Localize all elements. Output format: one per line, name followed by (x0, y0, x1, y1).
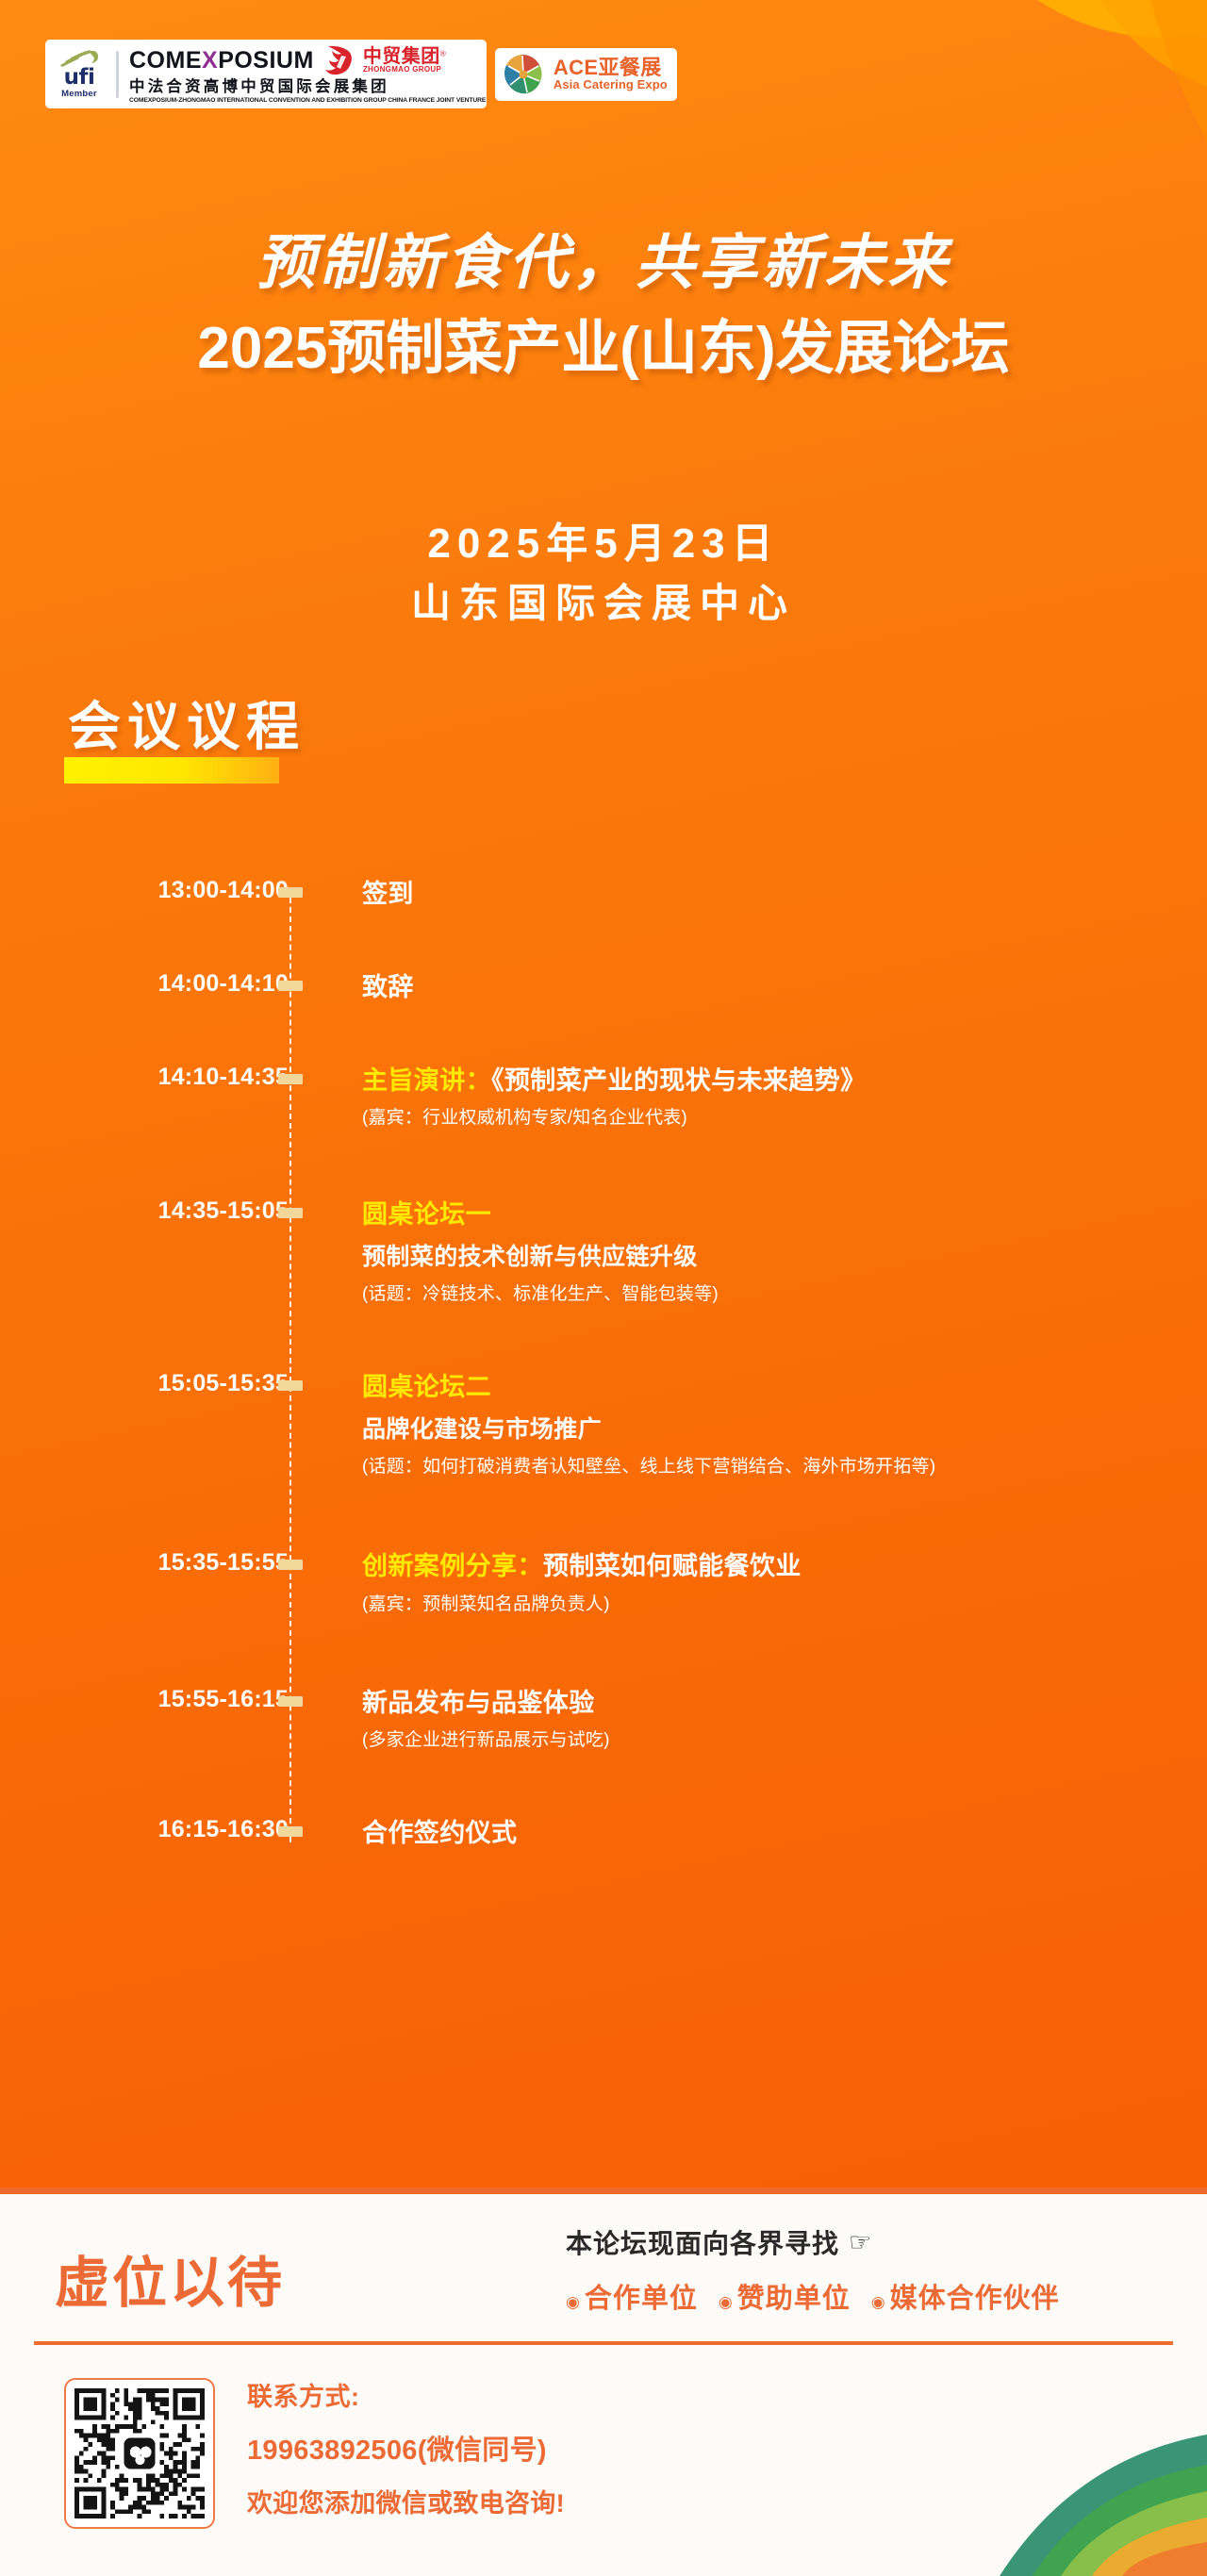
comexposium-wordmark: COMEXPOSIUM (129, 49, 314, 73)
contact-text-block: 联系方式: 19963892506(微信同号) 欢迎您添加微信或致电咨询! (247, 2376, 565, 2519)
agenda-row-note: (多家企业进行新品展示与试吃) (362, 1728, 610, 1754)
agenda-row-note: (话题：如何打破消费者认知壁垒、线上线下营销结合、海外市场开拓等) (362, 1455, 935, 1480)
ace-expo-plate: ACE亚餐展 Asia Catering Expo (495, 48, 677, 101)
timeline-tick (278, 1074, 303, 1084)
agenda-rows-container: 13:00-14:00签到14:00-14:10致辞14:10-14:35主旨演… (0, 877, 1207, 1850)
comexposium-top-row: COMEXPOSIUM 中贸集团® ZHONGMAO GROUP (129, 44, 479, 76)
seek-item: ◉媒体合作伙伴 (871, 2276, 1060, 2316)
agenda-row-time: 14:35-15:05 (62, 1197, 289, 1225)
timeline-tick (278, 981, 303, 991)
agenda-row-body: 致辞 (353, 970, 414, 1004)
event-date: 2025年5月23日 (0, 509, 1207, 570)
timeline-tick (278, 887, 303, 898)
seek-item-bullet-icon: ◉ (871, 2293, 886, 2311)
agenda-heading-underline (64, 757, 279, 784)
seek-items-list: ◉合作单位◉赞助单位◉媒体合作伙伴 (566, 2276, 1169, 2316)
contact-phone[interactable]: 19963892506(微信同号) (247, 2428, 565, 2468)
zhongmao-en: ZHONGMAO GROUP (363, 66, 446, 74)
agenda-row-note: (话题：冷链技术、标准化生产、智能包装等) (362, 1282, 719, 1308)
agenda-row-note: (嘉宾：行业权威机构专家/知名企业代表) (362, 1106, 867, 1131)
ufi-wordmark: ufi (64, 68, 95, 88)
agenda-row-title: 创新案例分享：预制菜如何赋能餐饮业 (362, 1549, 802, 1583)
header-logo-bar: ufi Member COMEXPOSIUM 中贸集团® ZHONGMAO GR… (45, 40, 677, 108)
agenda-row-time: 15:05-15:35 (62, 1370, 289, 1397)
ufi-comexposium-plate: ufi Member COMEXPOSIUM 中贸集团® ZHONGMAO GR… (45, 40, 487, 108)
agenda-row-note: (嘉宾：预制菜知名品牌负责人) (362, 1593, 802, 1618)
timeline-tick (278, 1560, 303, 1570)
agenda-row-time: 16:15-16:30 (62, 1816, 289, 1843)
agenda-row-body: 创新案例分享：预制菜如何赋能餐饮业(嘉宾：预制菜知名品牌负责人) (353, 1549, 802, 1617)
agenda-row-title: 合作签约仪式 (362, 1816, 517, 1850)
agenda-row-body: 签到 (353, 877, 414, 911)
agenda-row-body: 主旨演讲：《预制菜产业的现状与未来趋势》(嘉宾：行业权威机构专家/知名企业代表) (353, 1064, 867, 1131)
agenda-row: 14:10-14:35主旨演讲：《预制菜产业的现状与未来趋势》(嘉宾：行业权威机… (0, 1064, 1207, 1131)
zhongmao-cn-row: 中贸集团® (363, 47, 446, 66)
footer-divider (34, 2341, 1173, 2345)
sponsor-call-zone: 虚位以待 本论坛现面向各界寻找 ☞ ◉合作单位◉赞助单位◉媒体合作伙伴 (0, 2216, 1207, 2338)
footer-panel: 虚位以待 本论坛现面向各界寻找 ☞ ◉合作单位◉赞助单位◉媒体合作伙伴 联系方式… (0, 2188, 1207, 2576)
pointing-hand-icon: ☞ (849, 2230, 872, 2255)
agenda-row-time: 14:00-14:10 (62, 970, 289, 998)
agenda-row-body: 圆桌论坛二品牌化建设与市场推广(话题：如何打破消费者认知壁垒、线上线下营销结合、… (353, 1370, 935, 1480)
agenda-row-subtitle: 预制菜的技术创新与供应链升级 (362, 1242, 719, 1274)
seek-item-label: 合作单位 (585, 2284, 698, 2314)
agenda-row-time: 14:10-14:35 (62, 1064, 289, 1091)
seek-item-bullet-icon: ◉ (566, 2293, 581, 2311)
sponsor-placeholder-text: 虚位以待 (55, 2238, 285, 2318)
agenda-row-title: 圆桌论坛一 (362, 1197, 719, 1231)
seek-item-bullet-icon: ◉ (719, 2293, 734, 2311)
ace-en-name: Asia Catering Expo (554, 78, 668, 91)
timeline-tick (278, 1696, 303, 1707)
ufi-member-label: Member (61, 89, 97, 99)
agenda-title-lead: 创新案例分享： (362, 1552, 543, 1580)
zhongmao-dragon-icon (322, 44, 355, 76)
timeline-tick (278, 1826, 303, 1837)
timeline-tick (278, 1380, 303, 1391)
agenda-title-continuation: 《预制菜产业的现状与未来趋势》 (491, 1066, 867, 1095)
agenda-row: 15:55-16:15新品发布与品鉴体验(多家企业进行新品展示与试吃) (0, 1686, 1207, 1754)
logo-divider (116, 51, 119, 98)
ace-text-block: ACE亚餐展 Asia Catering Expo (554, 58, 668, 91)
agenda-timeline: 13:00-14:00签到14:00-14:10致辞14:10-14:35主旨演… (0, 877, 1207, 1850)
agenda-row-body: 圆桌论坛一预制菜的技术创新与供应链升级(话题：冷链技术、标准化生产、智能包装等) (353, 1197, 719, 1308)
timeline-tick (278, 1208, 303, 1218)
contact-note: 欢迎您添加微信或致电咨询! (247, 2483, 565, 2519)
agenda-row-time: 15:35-15:55 (62, 1549, 289, 1577)
seek-text: 本论坛现面向各界寻找 (566, 2223, 839, 2261)
agenda-heading-text: 会议议程 (68, 700, 306, 755)
zhongmao-text: 中贸集团® ZHONGMAO GROUP (363, 47, 446, 74)
agenda-title-lead: 主旨演讲： (362, 1066, 491, 1095)
agenda-row: 14:00-14:10致辞 (0, 970, 1207, 1004)
agenda-row-title: 致辞 (362, 970, 414, 1004)
wechat-qr-code[interactable] (74, 2388, 205, 2518)
event-venue: 山东国际会展中心 (0, 571, 1207, 629)
wechat-qr-card[interactable] (64, 2378, 215, 2529)
agenda-row: 16:15-16:30合作签约仪式 (0, 1816, 1207, 1850)
contact-zone: 联系方式: 19963892506(微信同号) 欢迎您添加微信或致电咨询! (0, 2372, 1207, 2576)
agenda-row-title: 新品发布与品鉴体验 (362, 1686, 610, 1720)
footer-top-rule (0, 2188, 1207, 2194)
page-title: 2025预制菜产业(山东)发展论坛 (0, 318, 1207, 379)
agenda-row-time: 13:00-14:00 (62, 877, 289, 904)
seek-line: 本论坛现面向各界寻找 ☞ (566, 2223, 1169, 2261)
comexposium-block: COMEXPOSIUM 中贸集团® ZHONGMAO GROUP 中法合资高博中… (129, 44, 479, 104)
ace-cn-name: ACE亚餐展 (554, 58, 668, 78)
agenda-row-subtitle: 品牌化建设与市场推广 (362, 1414, 935, 1446)
agenda-row-title: 圆桌论坛二 (362, 1370, 935, 1404)
hero-slogan: 预制新食代，共享新未来 (0, 215, 1207, 301)
agenda-row-title: 主旨演讲：《预制菜产业的现状与未来趋势》 (362, 1064, 867, 1098)
ace-pinwheel-icon (501, 52, 546, 97)
agenda-row-body: 合作签约仪式 (353, 1816, 517, 1850)
contact-label: 联系方式: (247, 2376, 565, 2413)
seek-item-label: 赞助单位 (737, 2284, 851, 2314)
comexposium-en-name: COMEXPOSIUM-ZHONGMAO INTERNATIONAL CONVE… (129, 97, 486, 104)
agenda-row: 15:35-15:55创新案例分享：预制菜如何赋能餐饮业(嘉宾：预制菜知名品牌负… (0, 1549, 1207, 1617)
sponsor-seek-block: 本论坛现面向各界寻找 ☞ ◉合作单位◉赞助单位◉媒体合作伙伴 (566, 2223, 1169, 2316)
poster-root: ufi Member COMEXPOSIUM 中贸集团® ZHONGMAO GR… (0, 0, 1207, 2576)
agenda-row: 14:35-15:05圆桌论坛一预制菜的技术创新与供应链升级(话题：冷链技术、标… (0, 1197, 1207, 1308)
agenda-row-body: 新品发布与品鉴体验(多家企业进行新品展示与试吃) (353, 1686, 610, 1754)
agenda-row-time: 15:55-16:15 (62, 1686, 289, 1713)
ufi-logo: ufi Member (53, 47, 106, 102)
agenda-row: 13:00-14:00签到 (0, 877, 1207, 911)
agenda-heading: 会议议程 (68, 700, 306, 755)
seek-item: ◉合作单位 (566, 2276, 698, 2316)
agenda-row-title: 签到 (362, 877, 414, 911)
seek-item: ◉赞助单位 (719, 2276, 851, 2316)
registered-mark-icon: ® (440, 50, 446, 58)
comexposium-cn-name: 中法合资高博中贸国际会展集团 (129, 78, 479, 95)
seek-item-label: 媒体合作伙伴 (890, 2284, 1060, 2314)
agenda-row: 15:05-15:35圆桌论坛二品牌化建设与市场推广(话题：如何打破消费者认知壁… (0, 1370, 1207, 1480)
agenda-title-continuation: 预制菜如何赋能餐饮业 (543, 1552, 802, 1580)
